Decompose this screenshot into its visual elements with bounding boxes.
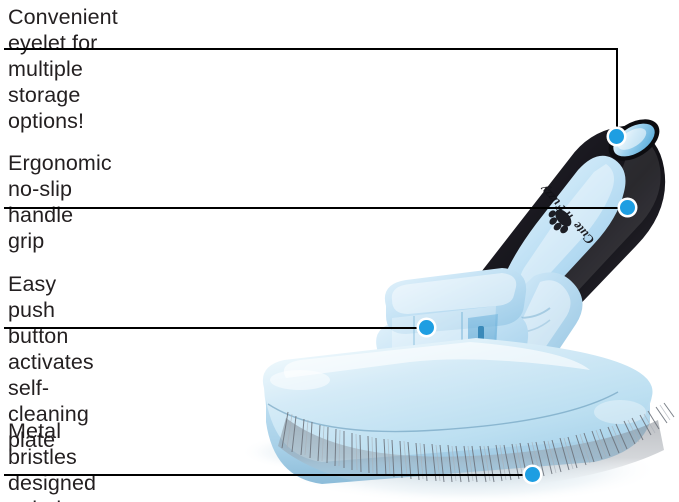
callout-eyelet-label: Convenient eyelet for multiple storage o… — [8, 4, 118, 134]
brand-logo: Cute 'n Fuzzy — [528, 182, 598, 255]
push-button-housing — [376, 268, 528, 400]
callout-eyelet-rule — [4, 48, 618, 50]
callout-push-button-rule — [4, 327, 428, 329]
callout-bristles-label: Metal bristles designed to help control … — [8, 418, 96, 502]
callout-eyelet-rule-vertical — [616, 48, 618, 136]
product-infographic: Cute 'n Fuzzy — [0, 0, 679, 502]
brush-neck — [469, 272, 582, 396]
brush-head — [263, 338, 653, 484]
callout-bristles-rule — [4, 474, 534, 476]
brush-handle — [452, 126, 665, 374]
callout-push-button-marker-dot — [419, 320, 434, 335]
handle-grip-panel: Cute 'n Fuzzy — [499, 156, 625, 313]
svg-text:Cute 'n Fuzzy: Cute 'n Fuzzy — [536, 182, 597, 248]
metal-bristles — [278, 403, 674, 490]
callout-eyelet-marker-dot — [609, 129, 624, 144]
callout-grip-rule — [4, 207, 628, 209]
callout-grip-label: Ergonomic no-slip handle grip — [8, 150, 112, 254]
callout-bristles-marker-dot — [525, 467, 540, 482]
callout-grip-marker-dot — [620, 200, 635, 215]
